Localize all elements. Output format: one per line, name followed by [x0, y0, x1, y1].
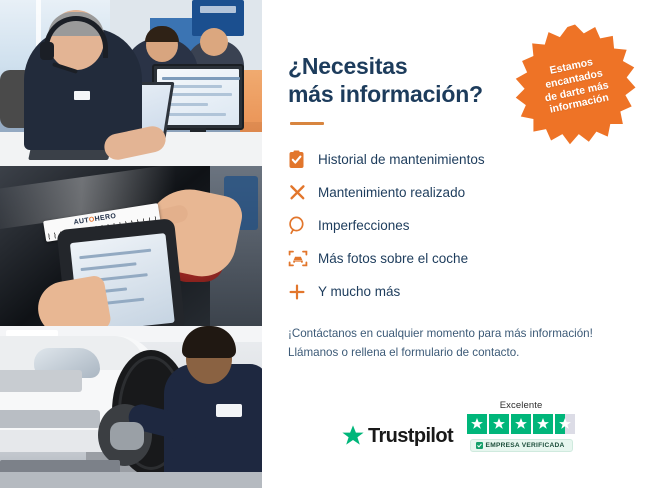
- screen-row: [162, 77, 240, 80]
- list-item: Imperfecciones: [288, 209, 624, 242]
- list-item: Mantenimiento realizado: [288, 176, 624, 209]
- paragraph-line-1: ¡Contáctanos en cualquier momento para m…: [288, 327, 593, 340]
- agent-three-head: [200, 28, 228, 56]
- car-scan-icon: [288, 249, 318, 268]
- star-filled: [467, 414, 487, 434]
- star-filled: [489, 414, 509, 434]
- content-panel: ¿Necesitas más información? Historial de…: [262, 0, 650, 488]
- list-item-label: Más fotos sobre el coche: [318, 251, 468, 266]
- info-promo-card: AUTOHERO: [0, 0, 650, 488]
- paragraph-line-2: Llámanos o rellena el formulario de cont…: [288, 346, 519, 359]
- agent-name-badge: [74, 91, 90, 100]
- star-filled: [511, 414, 531, 434]
- technician-polo-logo: [216, 404, 242, 417]
- list-item: Y mucho más: [288, 275, 624, 308]
- workshop-floor: [0, 472, 262, 488]
- feature-list: Historial de mantenimientos Mantenimient…: [288, 143, 624, 308]
- tools-cross-icon: [288, 183, 318, 202]
- contact-paragraph: ¡Contáctanos en cualquier momento para m…: [288, 324, 624, 362]
- list-item-label: Mantenimiento realizado: [318, 185, 465, 200]
- list-item-label: Historial de mantenimientos: [318, 152, 485, 167]
- trustpilot-star-icon: [341, 424, 365, 448]
- status-badge-starburst: Estamos encantados de darte más informac…: [512, 22, 638, 148]
- tablet-row: [81, 262, 137, 271]
- trustpilot-rating: Excelente EMPRESA VERIFICADA: [467, 400, 575, 452]
- wall-banner-text: [200, 6, 236, 13]
- status-badge: EMPRESA VERIFICADA: [470, 439, 573, 452]
- call-center-agents-photo: [0, 0, 262, 166]
- tablet-row: [79, 249, 151, 260]
- screen-row: [162, 113, 226, 116]
- trustpilot-wordmark: Trustpilot: [368, 425, 453, 448]
- magnifier-icon: [288, 216, 318, 235]
- star-filled: [533, 414, 553, 434]
- car-grille-upper: [0, 370, 82, 392]
- star-half: [555, 414, 575, 434]
- title-underline: [290, 122, 324, 125]
- star-rating: [467, 414, 575, 434]
- headline-line-1: ¿Necesitas: [288, 53, 407, 79]
- car-inspection-ruler-photo: AUTOHERO: [0, 166, 262, 326]
- technician-glove: [110, 422, 144, 450]
- list-item-label: Imperfecciones: [318, 218, 410, 233]
- badge-text: Estamos encantados de darte más informac…: [538, 54, 612, 118]
- verified-check-icon: [476, 442, 483, 449]
- clipboard-check-icon: [288, 150, 318, 169]
- verified-label: EMPRESA VERIFICADA: [486, 442, 565, 449]
- photo-column: AUTOHERO: [0, 0, 262, 488]
- headline-line-2: más información?: [288, 81, 483, 107]
- workshop-wheel-check-photo: [0, 326, 262, 488]
- headset-earcup: [40, 42, 54, 60]
- rating-label: Excelente: [500, 400, 543, 411]
- list-item: Más fotos sobre el coche: [288, 242, 624, 275]
- list-item-label: Y mucho más: [318, 284, 400, 299]
- trustpilot-widget[interactable]: Trustpilot Excelente EMPRESA VERIFICAD: [288, 400, 628, 452]
- list-item: Historial de mantenimientos: [288, 143, 624, 176]
- trustpilot-logo: Trustpilot: [341, 424, 453, 448]
- badge-content: Estamos encantados de darte más informac…: [512, 22, 638, 148]
- plus-icon: [288, 283, 318, 301]
- car-grille-lower: [0, 410, 100, 428]
